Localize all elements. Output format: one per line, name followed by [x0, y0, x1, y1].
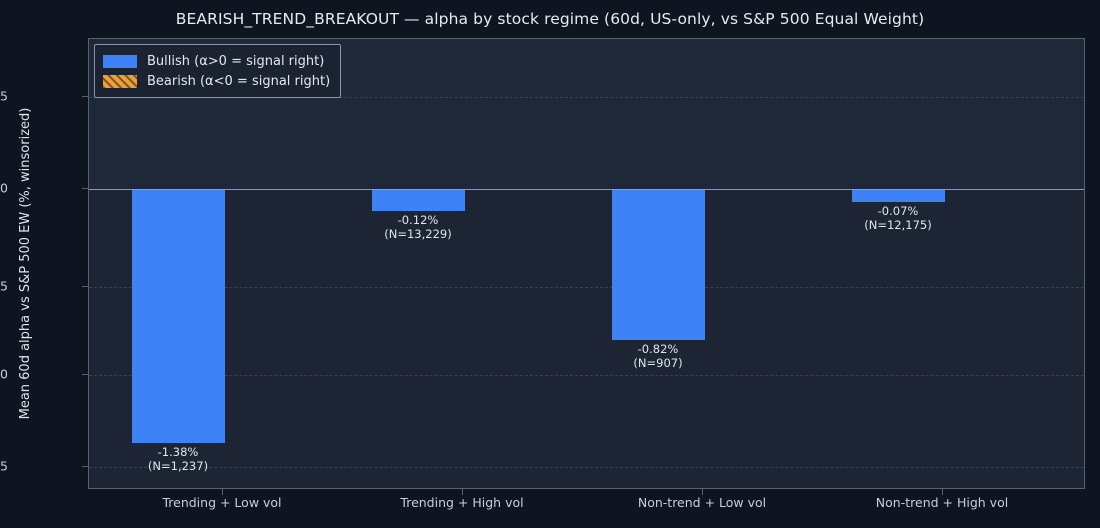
bar-label-trending-high-vol: -0.12% (N=13,229)	[338, 213, 498, 241]
bar-trending-high-vol[interactable]	[372, 189, 465, 211]
x-tick-label-trending-high-vol: Trending + High vol	[400, 495, 523, 510]
bar-nontrend-low-vol[interactable]	[612, 189, 705, 340]
legend-entry-bullish[interactable]: Bullish (α>0 = signal right)	[103, 51, 330, 71]
bar-nontrend-high-vol[interactable]	[852, 189, 945, 202]
bar-value-trending-high-vol: -0.12%	[398, 213, 439, 227]
zero-reference-line	[89, 189, 1084, 190]
bar-count-trending-low-vol: (N=1,237)	[98, 459, 258, 473]
y-tick-label-0: 0.5	[0, 89, 8, 104]
legend-swatch-bearish-icon	[103, 75, 137, 88]
gridline-neg1p0	[89, 375, 1084, 376]
chart-legend[interactable]: Bullish (α>0 = signal right) Bearish (α<…	[94, 44, 341, 98]
bar-value-trending-low-vol: -1.38%	[158, 445, 199, 459]
y-tick-label-4: −1.5	[0, 459, 8, 474]
legend-label-bearish: Bearish (α<0 = signal right)	[147, 74, 330, 89]
bar-value-nontrend-high-vol: -0.07%	[878, 204, 919, 218]
gridline-neg0p5	[89, 287, 1084, 288]
bar-label-nontrend-high-vol: -0.07% (N=12,175)	[818, 204, 978, 232]
chart-title: BEARISH_TREND_BREAKOUT — alpha by stock …	[0, 10, 1100, 28]
legend-swatch-bullish-icon	[103, 55, 137, 68]
y-tick-label-2: −0.5	[0, 279, 8, 294]
x-tick-label-trending-low-vol: Trending + Low vol	[162, 495, 281, 510]
plot-area: -1.38% (N=1,237) -0.12% (N=13,229) -0.82…	[88, 38, 1085, 489]
bar-label-trending-low-vol: -1.38% (N=1,237)	[98, 445, 258, 473]
bar-count-trending-high-vol: (N=13,229)	[338, 227, 498, 241]
x-tick-label-nontrend-low-vol: Non-trend + Low vol	[638, 495, 766, 510]
bar-trending-low-vol[interactable]	[132, 189, 225, 443]
bar-count-nontrend-high-vol: (N=12,175)	[818, 218, 978, 232]
bar-count-nontrend-low-vol: (N=907)	[578, 356, 738, 370]
bar-label-nontrend-low-vol: -0.82% (N=907)	[578, 342, 738, 370]
chart-figure: BEARISH_TREND_BREAKOUT — alpha by stock …	[0, 0, 1100, 528]
y-tick-label-1: 0.0	[0, 181, 8, 196]
plot-background-negative	[89, 189, 1084, 488]
legend-entry-bearish[interactable]: Bearish (α<0 = signal right)	[103, 71, 330, 91]
y-axis-label: Mean 60d alpha vs S&P 500 EW (%, winsori…	[18, 38, 38, 489]
bar-value-nontrend-low-vol: -0.82%	[638, 342, 679, 356]
x-tick-label-nontrend-high-vol: Non-trend + High vol	[876, 495, 1008, 510]
legend-label-bullish: Bullish (α>0 = signal right)	[147, 54, 324, 69]
y-tick-label-3: −1.0	[0, 367, 8, 382]
